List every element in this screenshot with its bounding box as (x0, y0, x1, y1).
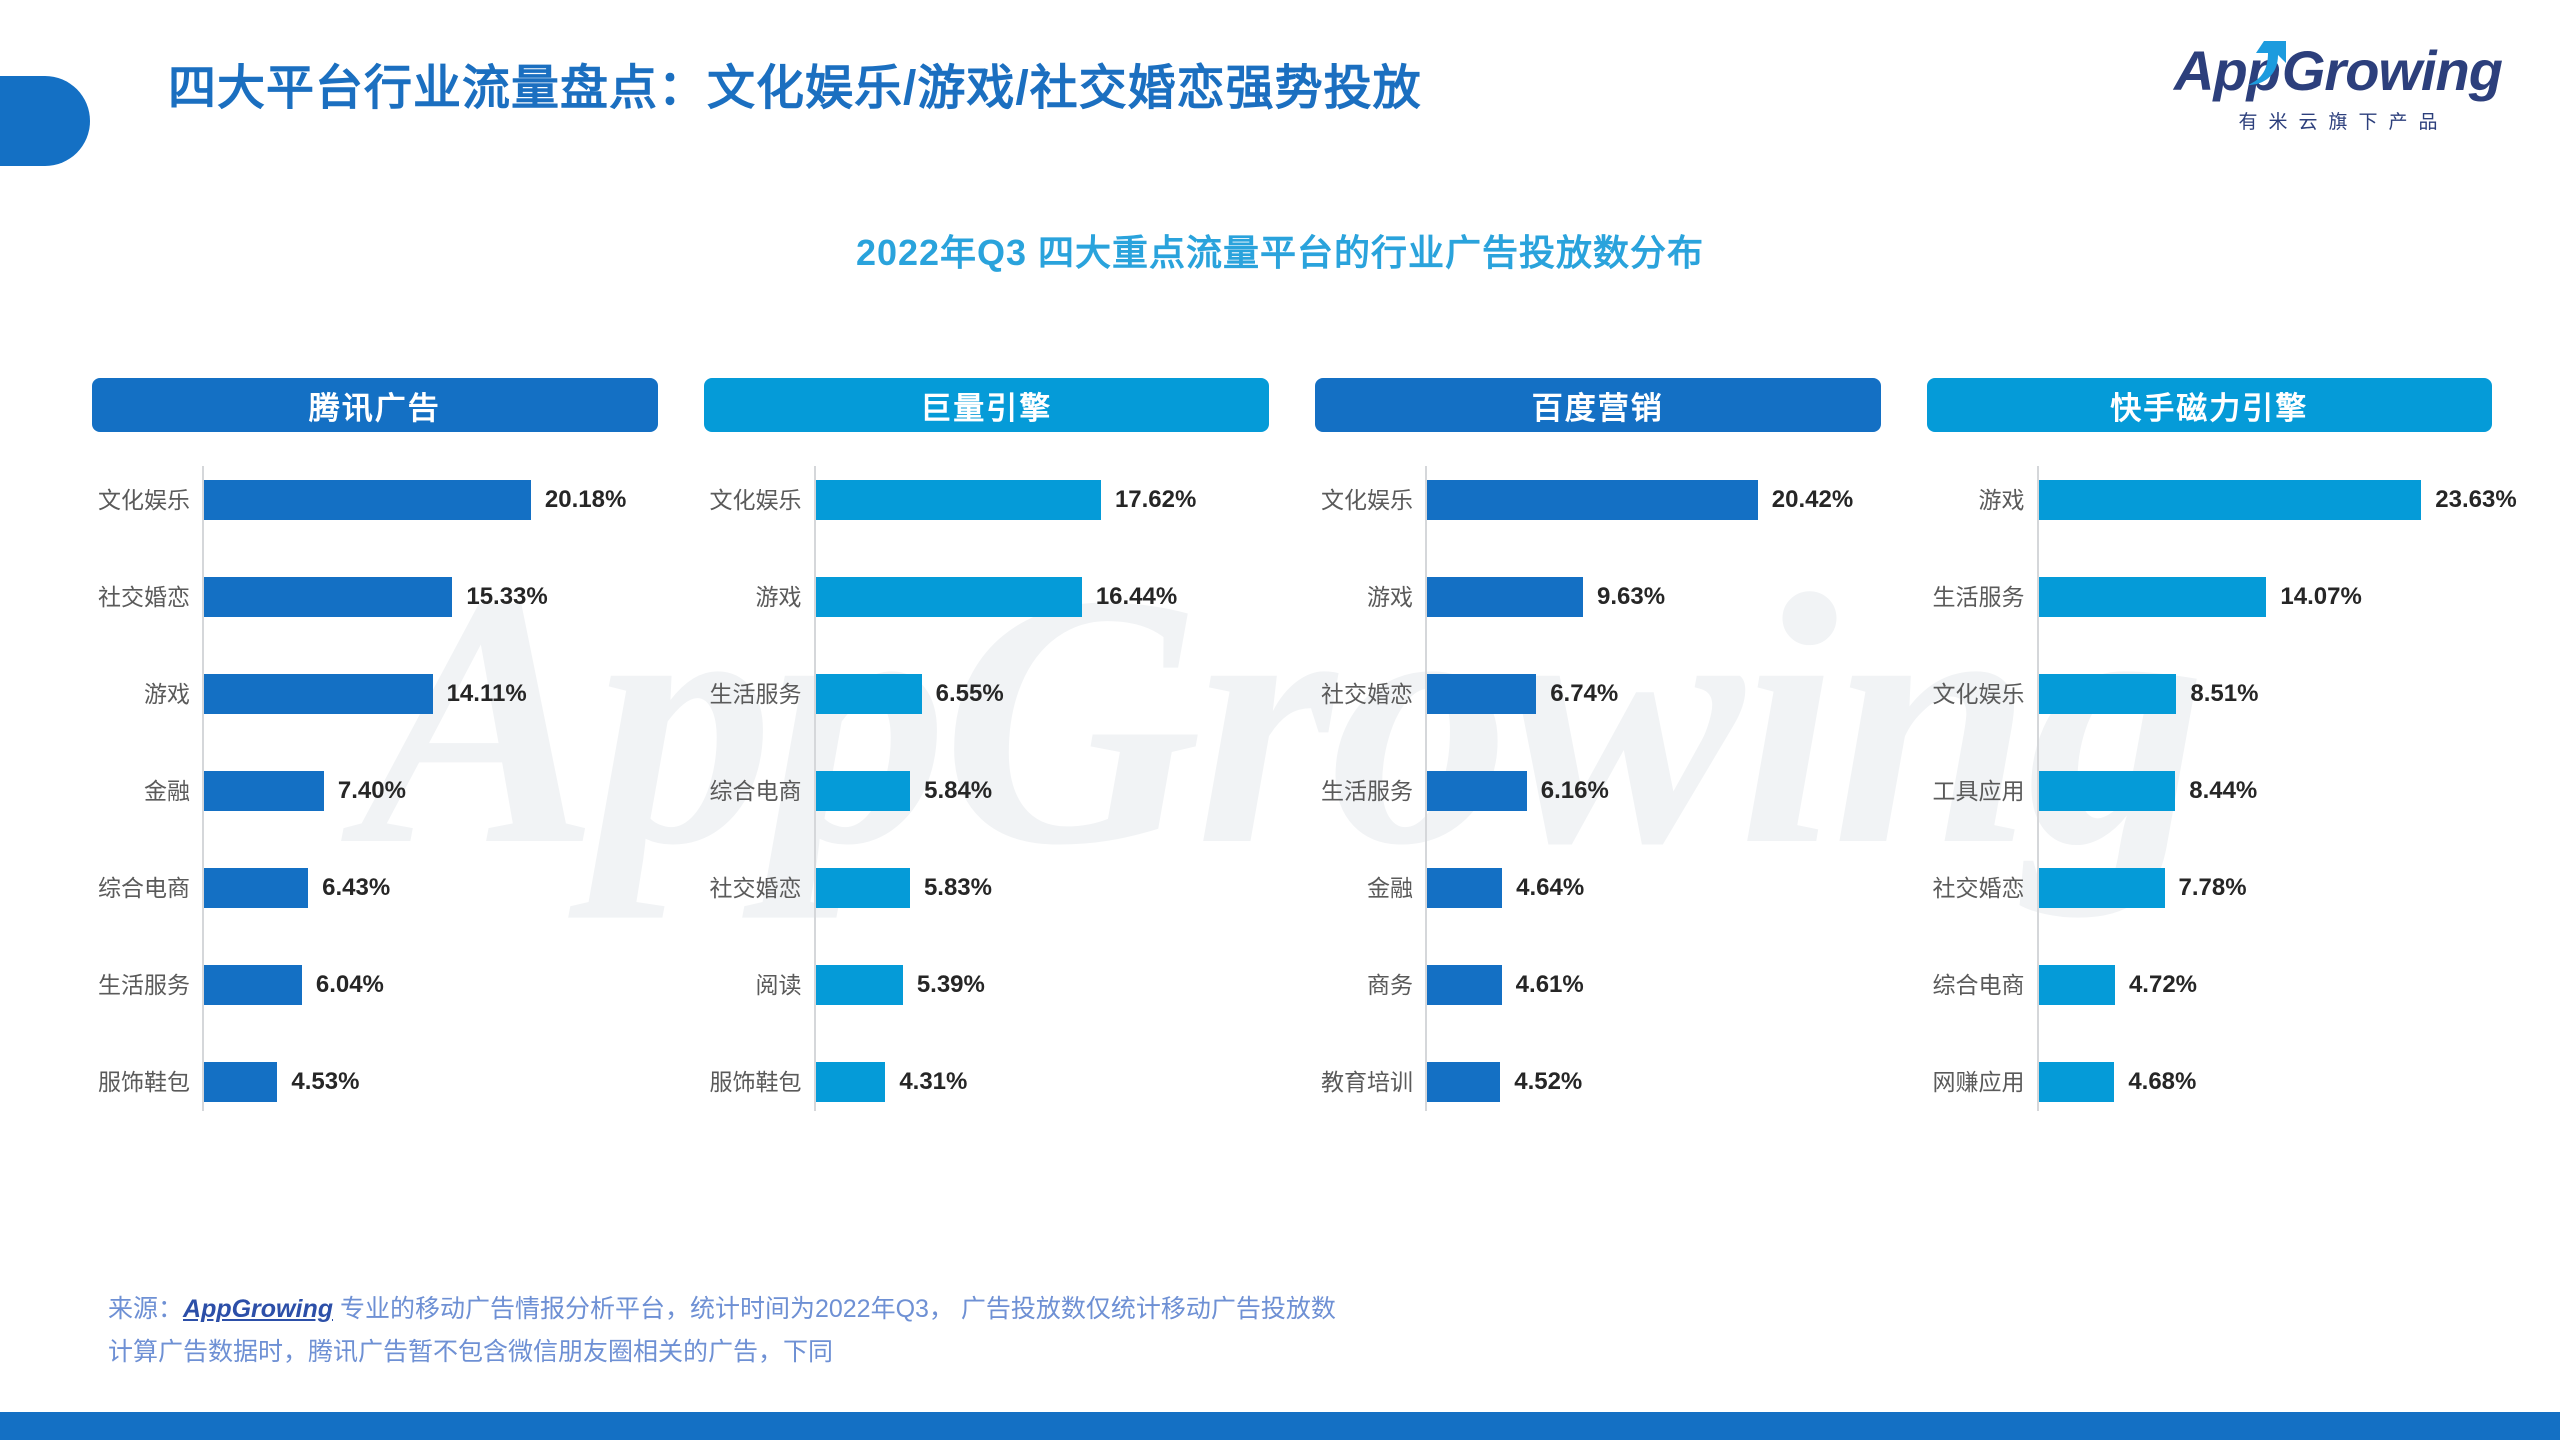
value-label: 6.16% (1541, 771, 1609, 811)
value-label: 20.42% (1772, 480, 1853, 520)
plot-area-4: 游戏23.63%生活服务14.07%文化娱乐8.51%工具应用8.44%社交婚恋… (1927, 466, 2493, 1111)
bar[interactable] (2039, 771, 2176, 811)
bar-row: 综合电商5.84% (704, 771, 1270, 811)
panel-header-1[interactable]: 腾讯广告 (92, 378, 658, 432)
bar-row: 社交婚恋7.78% (1927, 868, 2493, 908)
value-label: 4.64% (1516, 868, 1584, 908)
category-label: 网赚应用 (1927, 1062, 2025, 1102)
chart-subtitle: 2022年Q3 四大重点流量平台的行业广告投放数分布 (0, 224, 2560, 276)
bar[interactable] (204, 480, 531, 520)
bar-row: 工具应用8.44% (1927, 771, 2493, 811)
category-label: 阅读 (704, 965, 802, 1005)
bar-rows: 游戏23.63%生活服务14.07%文化娱乐8.51%工具应用8.44%社交婚恋… (1927, 466, 2493, 1111)
bar[interactable] (2039, 480, 2422, 520)
value-label: 5.84% (924, 771, 992, 811)
bar[interactable] (204, 771, 324, 811)
value-label: 17.62% (1115, 480, 1196, 520)
appgrowing-logo: App Growing 有米云旗下产品 (2168, 38, 2508, 134)
category-label: 文化娱乐 (1315, 480, 1413, 520)
value-label: 4.72% (2129, 965, 2197, 1005)
bar-row: 服饰鞋包4.31% (704, 1062, 1270, 1102)
bar[interactable] (1427, 868, 1502, 908)
bar[interactable] (1427, 1062, 1500, 1102)
footer-line-1: 来源：AppGrowing 专业的移动广告情报分析平台，统计时间为2022年Q3… (108, 1288, 1336, 1331)
source-footer: 来源：AppGrowing 专业的移动广告情报分析平台，统计时间为2022年Q3… (108, 1288, 1336, 1374)
bar[interactable] (204, 868, 308, 908)
value-label: 14.07% (2280, 577, 2361, 617)
category-label: 金融 (92, 771, 190, 811)
value-label: 16.44% (1096, 577, 1177, 617)
value-label: 5.83% (924, 868, 992, 908)
value-label: 20.18% (545, 480, 626, 520)
bar[interactable] (1427, 577, 1583, 617)
bar-row: 文化娱乐8.51% (1927, 674, 2493, 714)
logo-subtitle: 有米云旗下产品 (2168, 107, 2508, 134)
category-label: 服饰鞋包 (92, 1062, 190, 1102)
value-label: 9.63% (1597, 577, 1665, 617)
bar-row: 生活服务6.04% (92, 965, 658, 1005)
bar-row: 社交婚恋6.74% (1315, 674, 1881, 714)
category-label: 游戏 (704, 577, 802, 617)
value-label: 5.39% (917, 965, 985, 1005)
page-title: 四大平台行业流量盘点：文化娱乐/游戏/社交婚恋强势投放 (168, 48, 1422, 118)
bar[interactable] (816, 1062, 886, 1102)
bar-row: 文化娱乐17.62% (704, 480, 1270, 520)
bar-row: 商务4.61% (1315, 965, 1881, 1005)
bar[interactable] (1427, 771, 1527, 811)
bar[interactable] (2039, 868, 2165, 908)
bar[interactable] (816, 771, 911, 811)
bar-row: 游戏23.63% (1927, 480, 2493, 520)
bar[interactable] (816, 480, 1101, 520)
bar-row: 金融4.64% (1315, 868, 1881, 908)
category-label: 金融 (1315, 868, 1413, 908)
footer-prefix: 来源： (108, 1295, 183, 1323)
plot-area-1: 文化娱乐20.18%社交婚恋15.33%游戏14.11%金融7.40%综合电商6… (92, 466, 658, 1111)
category-label: 文化娱乐 (704, 480, 802, 520)
slide-root: AppGrowing 四大平台行业流量盘点：文化娱乐/游戏/社交婚恋强势投放 A… (0, 0, 2560, 1440)
value-label: 4.31% (899, 1062, 967, 1102)
bar-row: 生活服务6.16% (1315, 771, 1881, 811)
bar[interactable] (204, 577, 452, 617)
bar[interactable] (204, 1062, 277, 1102)
category-label: 生活服务 (704, 674, 802, 714)
bar-row: 阅读5.39% (704, 965, 1270, 1005)
chart-panel-2: 巨量引擎文化娱乐17.62%游戏16.44%生活服务6.55%综合电商5.84%… (704, 378, 1270, 1138)
bar-row: 生活服务6.55% (704, 674, 1270, 714)
bar[interactable] (816, 965, 903, 1005)
logo-growing-text: Growing (2282, 38, 2502, 103)
category-label: 综合电商 (92, 868, 190, 908)
value-label: 7.78% (2179, 868, 2247, 908)
bar-row: 文化娱乐20.18% (92, 480, 658, 520)
category-label: 游戏 (1927, 480, 2025, 520)
chart-panel-4: 快手磁力引擎游戏23.63%生活服务14.07%文化娱乐8.51%工具应用8.4… (1927, 378, 2493, 1138)
category-label: 综合电商 (1927, 965, 2025, 1005)
category-label: 综合电商 (704, 771, 802, 811)
value-label: 23.63% (2435, 480, 2516, 520)
panel-header-4[interactable]: 快手磁力引擎 (1927, 378, 2493, 432)
bar-row: 生活服务14.07% (1927, 577, 2493, 617)
plot-area-3: 文化娱乐20.42%游戏9.63%社交婚恋6.74%生活服务6.16%金融4.6… (1315, 466, 1881, 1111)
category-label: 工具应用 (1927, 771, 2025, 811)
value-label: 6.04% (316, 965, 384, 1005)
bar-row: 综合电商6.43% (92, 868, 658, 908)
footer-line-2: 计算广告数据时，腾讯广告暂不包含微信朋友圈相关的广告，下同 (108, 1331, 1336, 1374)
value-label: 4.68% (2128, 1062, 2196, 1102)
value-label: 7.40% (338, 771, 406, 811)
decorative-left-pill (0, 76, 90, 166)
bar-rows: 文化娱乐20.42%游戏9.63%社交婚恋6.74%生活服务6.16%金融4.6… (1315, 466, 1881, 1111)
category-label: 文化娱乐 (1927, 674, 2025, 714)
footer-line1-rest: 专业的移动广告情报分析平台，统计时间为2022年Q3， 广告投放数仅统计移动广告… (333, 1295, 1336, 1323)
bar-row: 游戏9.63% (1315, 577, 1881, 617)
bar-row: 金融7.40% (92, 771, 658, 811)
value-label: 4.61% (1516, 965, 1584, 1005)
value-label: 6.55% (936, 674, 1004, 714)
bar-row: 社交婚恋5.83% (704, 868, 1270, 908)
category-label: 游戏 (1315, 577, 1413, 617)
category-label: 生活服务 (92, 965, 190, 1005)
plot-area-2: 文化娱乐17.62%游戏16.44%生活服务6.55%综合电商5.84%社交婚恋… (704, 466, 1270, 1111)
bar[interactable] (204, 674, 433, 714)
bar-row: 社交婚恋15.33% (92, 577, 658, 617)
value-label: 14.11% (447, 674, 527, 714)
bar[interactable] (1427, 965, 1502, 1005)
bar[interactable] (816, 868, 910, 908)
logo-wordmark: App Growing (2168, 38, 2508, 103)
bottom-accent-bar (0, 1412, 2560, 1440)
category-label: 社交婚恋 (1315, 674, 1413, 714)
value-label: 8.51% (2190, 674, 2258, 714)
bar[interactable] (816, 577, 1082, 617)
bar-row: 游戏14.11% (92, 674, 658, 714)
bar[interactable] (2039, 577, 2267, 617)
panel-header-2[interactable]: 巨量引擎 (704, 378, 1270, 432)
bar-row: 综合电商4.72% (1927, 965, 2493, 1005)
panel-header-3[interactable]: 百度营销 (1315, 378, 1881, 432)
bar[interactable] (1427, 480, 1758, 520)
value-label: 8.44% (2189, 771, 2257, 811)
value-label: 4.52% (1514, 1062, 1582, 1102)
category-label: 社交婚恋 (92, 577, 190, 617)
category-label: 社交婚恋 (1927, 868, 2025, 908)
category-label: 服饰鞋包 (704, 1062, 802, 1102)
value-label: 6.74% (1550, 674, 1618, 714)
bar-rows: 文化娱乐17.62%游戏16.44%生活服务6.55%综合电商5.84%社交婚恋… (704, 466, 1270, 1111)
value-label: 4.53% (291, 1062, 359, 1102)
bar-row: 网赚应用4.68% (1927, 1062, 2493, 1102)
bar-row: 教育培训4.52% (1315, 1062, 1881, 1102)
chart-panel-3: 百度营销文化娱乐20.42%游戏9.63%社交婚恋6.74%生活服务6.16%金… (1315, 378, 1881, 1138)
bar-row: 游戏16.44% (704, 577, 1270, 617)
bar-row: 文化娱乐20.42% (1315, 480, 1881, 520)
charts-container: 腾讯广告文化娱乐20.18%社交婚恋15.33%游戏14.11%金融7.40%综… (92, 378, 2492, 1138)
bar-rows: 文化娱乐20.18%社交婚恋15.33%游戏14.11%金融7.40%综合电商6… (92, 466, 658, 1111)
bar-row: 服饰鞋包4.53% (92, 1062, 658, 1102)
footer-brand-link[interactable]: AppGrowing (183, 1295, 333, 1323)
category-label: 社交婚恋 (704, 868, 802, 908)
bar[interactable] (2039, 1062, 2115, 1102)
category-label: 文化娱乐 (92, 480, 190, 520)
category-label: 教育培训 (1315, 1062, 1413, 1102)
bar[interactable] (204, 965, 302, 1005)
chart-panel-1: 腾讯广告文化娱乐20.18%社交婚恋15.33%游戏14.11%金融7.40%综… (92, 378, 658, 1138)
bar[interactable] (816, 674, 922, 714)
value-label: 6.43% (322, 868, 390, 908)
category-label: 生活服务 (1927, 577, 2025, 617)
category-label: 商务 (1315, 965, 1413, 1005)
bar[interactable] (2039, 674, 2177, 714)
category-label: 生活服务 (1315, 771, 1413, 811)
category-label: 游戏 (92, 674, 190, 714)
bar[interactable] (2039, 965, 2115, 1005)
bar[interactable] (1427, 674, 1536, 714)
value-label: 15.33% (466, 577, 547, 617)
